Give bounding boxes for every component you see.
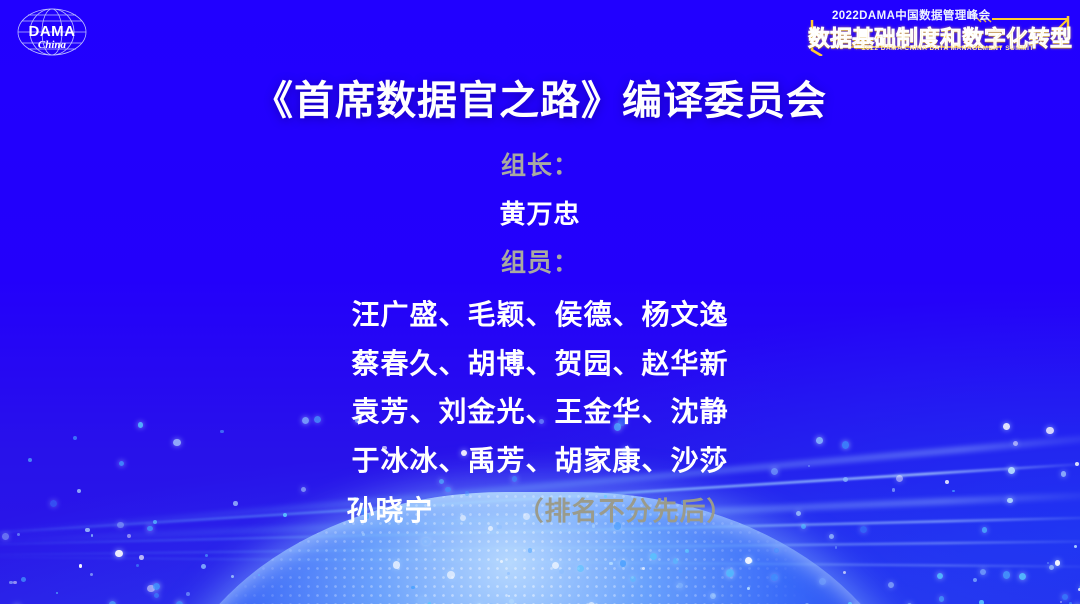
member-row: 于冰冰、禹芳、胡家康、沙莎: [0, 439, 1080, 479]
particle-dot: [115, 550, 123, 558]
particle-dot: [771, 574, 778, 581]
particle-dot: [2, 533, 9, 540]
particle-dot: [1047, 562, 1049, 564]
particle-dot: [559, 569, 564, 574]
particle-dot: [819, 578, 826, 585]
particle-dot: [90, 573, 93, 576]
particle-dot: [447, 571, 455, 579]
particle-dot: [186, 592, 190, 596]
particle-dot: [56, 592, 58, 594]
particle-dot: [79, 564, 83, 568]
leader-name: 黄万忠: [0, 194, 1080, 231]
order-disclaimer: （排名不分先后）: [518, 491, 734, 528]
particle-dot: [673, 558, 679, 564]
particle-dot: [609, 562, 613, 566]
particle-dot: [500, 560, 503, 563]
particle-dot: [973, 578, 977, 582]
particle-dot: [939, 596, 945, 602]
particle-dot: [507, 572, 510, 575]
particle-dot: [205, 554, 208, 557]
summit-banner: 2022DAMA中国数据管理峰会 数据基础制度和数字化转型 2022 DAMA …: [806, 2, 1074, 58]
particle-dot: [843, 571, 846, 574]
particle-dot: [439, 479, 444, 484]
particle-dot: [1060, 601, 1062, 603]
particle-dot: [1055, 560, 1060, 565]
particle-dot: [1062, 594, 1068, 600]
particle-dot: [153, 583, 160, 590]
dama-china-logo: DAMA China: [8, 6, 96, 58]
member-name-last: 孙晓宁: [346, 489, 433, 529]
light-ray: [0, 540, 1080, 556]
particle-dot: [154, 593, 159, 598]
particle-dot: [220, 430, 223, 433]
particle-dot: [21, 577, 26, 582]
particle-dot: [9, 581, 13, 585]
particle-dot: [17, 533, 20, 536]
particle-dot: [509, 599, 515, 604]
particle-dot: [835, 546, 837, 548]
particle-dot: [829, 534, 835, 540]
particle-dot: [127, 534, 131, 538]
last-member-row: 孙晓宁 （排名不分先后）: [0, 489, 1080, 529]
particle-dot: [677, 583, 683, 589]
particle-dot: [552, 562, 559, 569]
particle-dot: [727, 571, 733, 577]
particle-dot: [231, 575, 234, 578]
particle-dot: [679, 570, 682, 573]
particle-dot: [362, 533, 365, 536]
particle-dot: [422, 538, 429, 545]
particle-dot: [1003, 571, 1011, 579]
particle-dot: [642, 567, 645, 570]
particle-dot: [577, 565, 584, 572]
leader-label: 组长：: [0, 146, 1080, 182]
particle-dot: [1019, 573, 1026, 580]
particle-dot: [620, 560, 627, 567]
particle-dot: [979, 600, 984, 604]
member-row: 蔡春久、胡博、贺园、赵华新: [0, 342, 1080, 382]
particle-dot: [726, 569, 734, 577]
particle-dot: [774, 548, 779, 553]
particle-dot: [1049, 565, 1054, 570]
svg-text:China: China: [38, 39, 67, 51]
particle-dot: [147, 585, 155, 593]
particle-dot: [685, 549, 689, 553]
particle-dot: [1074, 545, 1077, 548]
member-row: 汪广盛、毛颖、侯德、杨文逸: [0, 293, 1080, 333]
particle-dot: [710, 593, 716, 599]
particle-dot: [945, 480, 949, 484]
particle-dot: [528, 548, 533, 553]
particle-dot: [139, 555, 144, 560]
particle-dot: [91, 534, 94, 537]
particle-dot: [745, 557, 752, 564]
particle-dot: [888, 582, 894, 588]
particle-dot: [749, 560, 752, 563]
particle-dot: [980, 569, 986, 575]
particle-dot: [508, 595, 510, 597]
particle-dot: [201, 564, 206, 569]
members-label: 组员：: [0, 243, 1080, 279]
presentation-slide: DAMA China 2022DAMA中国数据管理峰会 数据基础制度和数字化转型…: [0, 0, 1080, 604]
particle-dot: [258, 574, 260, 576]
page-title: 《首席数据官之路》编译委员会: [0, 68, 1080, 126]
particle-dot: [937, 573, 944, 580]
member-row: 袁芳、刘金光、王金华、沈静: [0, 390, 1080, 430]
particle-dot: [13, 581, 16, 584]
particle-dot: [393, 561, 401, 569]
particle-dot: [576, 550, 580, 554]
particle-dot: [136, 564, 139, 567]
particle-dot: [411, 586, 414, 589]
particle-dot: [747, 587, 750, 590]
particle-dot: [419, 597, 427, 604]
banner-english-subtitle: 2022 DAMA CHINA DATA MANAGEMENT SUMMIT: [862, 45, 1034, 52]
particle-dot: [630, 576, 636, 582]
svg-text:DAMA: DAMA: [29, 23, 76, 40]
particle-dot: [650, 553, 657, 560]
light-ray: [0, 556, 1080, 568]
particle-dot: [749, 559, 753, 563]
